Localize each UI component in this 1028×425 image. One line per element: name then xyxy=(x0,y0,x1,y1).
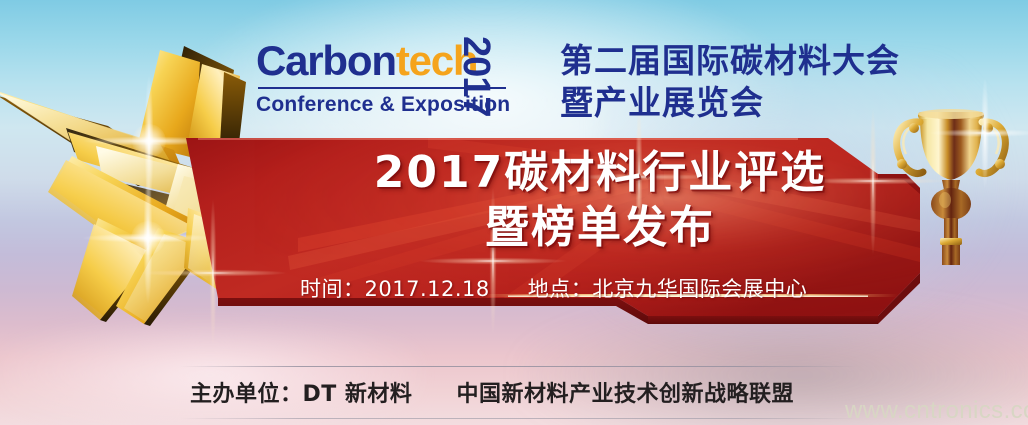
headline-line-2: 暨榜单发布 xyxy=(300,201,900,256)
event-title-line-2: 暨产业展览会 xyxy=(560,82,900,124)
organizers: 主办单位：DT 新材料中国新材料产业技术创新战略联盟 xyxy=(190,376,870,408)
logo-wordmark-carbon: Carbon xyxy=(256,37,396,84)
headline: 2017碳材料行业评选 暨榜单发布 xyxy=(300,146,900,255)
logo-wordmark: Carbontech xyxy=(256,40,556,82)
carbontech-logo: Carbontech Conference & Exposition xyxy=(256,40,556,117)
watermark: www.cntronics.com xyxy=(845,397,1028,425)
sparkle-icon xyxy=(930,78,1028,188)
logo-subtitle: Conference & Exposition xyxy=(256,93,556,117)
event-title: 第二届国际碳材料大会 暨产业展览会 xyxy=(560,40,900,124)
promotional-banner: Carbontech Conference & Exposition 2017 … xyxy=(0,0,1028,425)
event-venue: 地点：北京九华国际会展中心 xyxy=(528,277,808,301)
logo-year: 2017 xyxy=(454,36,497,131)
event-date: 时间：2017.12.18 xyxy=(300,277,490,301)
organizer-primary: 主办单位：DT 新材料 xyxy=(190,382,412,407)
event-title-line-1: 第二届国际碳材料大会 xyxy=(560,40,900,82)
headline-line-1: 2017碳材料行业评选 xyxy=(374,147,826,198)
organizer-divider-bottom xyxy=(180,418,858,419)
event-meta: 时间：2017.12.18地点：北京九华国际会展中心 xyxy=(300,273,960,303)
organizer-secondary: 中国新材料产业技术创新战略联盟 xyxy=(456,382,794,407)
organizer-divider-top xyxy=(180,366,858,367)
